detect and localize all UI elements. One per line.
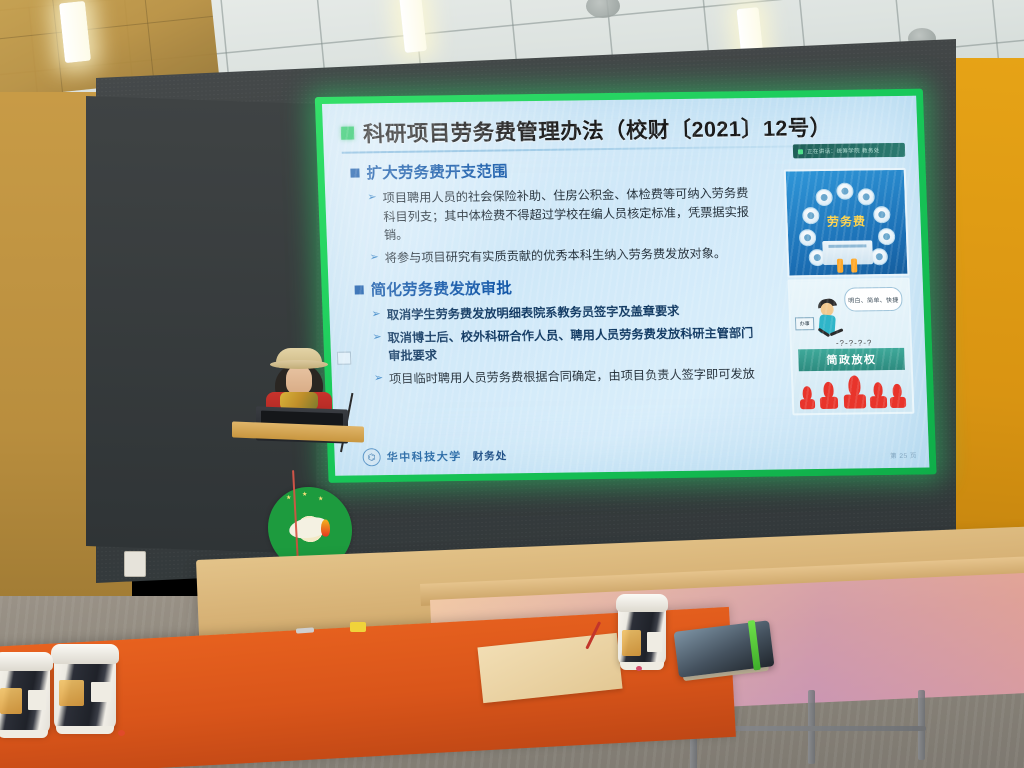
avatar-icon bbox=[878, 228, 896, 245]
arrow-icon: ➢ bbox=[374, 370, 384, 389]
arrow-icon: ➢ bbox=[367, 189, 378, 245]
cup-label bbox=[91, 682, 111, 702]
slide-body: 扩大劳务费开支范围 ➢ 项目聘用人员的社会保险补助、住房公积金、体检费等可纳入劳… bbox=[350, 156, 760, 393]
stamp-icon bbox=[848, 375, 861, 395]
university-logo-icon: ⌬ bbox=[362, 448, 381, 466]
bullet-2-3: ➢ 项目临时聘用人员劳务费根据合同确定，由项目负责人签字即可发放 bbox=[374, 365, 761, 389]
infographic-deregulation: 明白、简单、快捷 办事 -?-?-?-? 简政放权 bbox=[788, 278, 915, 416]
cup-label bbox=[28, 690, 45, 710]
avatar-icon bbox=[802, 207, 820, 224]
footer-university: 华中科技大学 bbox=[386, 448, 462, 465]
section-heading-2: 简化劳务费发放审批 bbox=[354, 273, 757, 301]
slide-side-icon bbox=[337, 352, 351, 365]
table-speck bbox=[350, 622, 366, 632]
stamp-icon bbox=[892, 384, 902, 398]
table-speck bbox=[636, 666, 642, 671]
cup-label bbox=[647, 632, 662, 652]
avatar-icon bbox=[815, 189, 833, 206]
bullet-1-1-text: 项目聘用人员的社会保险补助、住房公积金、体检费等可纳入劳务费科目列支；其中体检费… bbox=[382, 184, 755, 245]
emblem-star-icon: ★ bbox=[318, 495, 323, 502]
stamp-icon bbox=[890, 397, 906, 408]
bullet-1-2: ➢ 将参与项目研究有实质贡献的优秀本科生纳入劳务费发放对象。 bbox=[369, 244, 756, 268]
money-box-icon bbox=[822, 240, 873, 265]
cup-lid bbox=[616, 594, 669, 612]
avatar-icon bbox=[836, 183, 854, 200]
cup-lid bbox=[51, 644, 119, 664]
section-heading-1-label: 扩大劳务费开支范围 bbox=[366, 159, 508, 183]
slide-title: 科研项目劳务费管理办法（校财〔2021〕12号） bbox=[363, 111, 833, 149]
footer-department: 财务处 bbox=[472, 448, 507, 463]
title-bullet-icon bbox=[341, 127, 354, 140]
slide-footer-logo: ⌬ 华中科技大学 财务处 bbox=[362, 446, 507, 466]
avatar-icon bbox=[857, 188, 875, 205]
cup-body bbox=[618, 604, 666, 666]
bullet-2-1-text: 取消学生劳务费发放明细表院系教务员签字及盖章要求 bbox=[386, 302, 679, 325]
tag-icon: 办事 bbox=[795, 317, 814, 330]
table-speck bbox=[118, 730, 125, 736]
avatar-icon bbox=[871, 248, 889, 265]
emblem-flame-icon bbox=[321, 519, 330, 536]
slide: 科研项目劳务费管理办法（校财〔2021〕12号） 正在讲话：统筹学院 教务处 扩… bbox=[322, 96, 929, 476]
table-leg bbox=[918, 690, 925, 760]
cup-label-art bbox=[59, 680, 84, 706]
bullet-2-1: ➢ 取消学生劳务费发放明细表院系教务员签字及盖章要求 bbox=[371, 301, 758, 325]
cup-body bbox=[0, 662, 50, 734]
section-heading-2-label: 简化劳务费发放审批 bbox=[370, 277, 512, 301]
section-bullet-icon bbox=[350, 168, 359, 177]
cup-label-art bbox=[0, 688, 22, 714]
coffee-cup-left-far bbox=[0, 652, 50, 744]
stamp-icon bbox=[870, 396, 887, 408]
cup-lid bbox=[0, 652, 53, 671]
cup-base bbox=[56, 726, 113, 734]
bullet-1-2-text: 将参与项目研究有实质贡献的优秀本科生纳入劳务费发放对象。 bbox=[384, 244, 726, 267]
stamp-icon bbox=[802, 386, 812, 400]
avatar-icon bbox=[799, 229, 817, 246]
coffee-cup-left-near bbox=[54, 644, 116, 740]
deregulation-banner: 简政放权 bbox=[798, 348, 905, 371]
arrow-icon: ➢ bbox=[371, 306, 381, 325]
motion-dots-icon: -?-?-?-? bbox=[836, 338, 873, 348]
stamp-icon bbox=[800, 399, 815, 409]
presenter-hat bbox=[276, 348, 322, 368]
infographic-labor-fee: 劳务费 bbox=[784, 168, 910, 278]
stamp-icon bbox=[844, 394, 867, 408]
coffee-cup-center bbox=[618, 594, 666, 672]
screen-surface: 科研项目劳务费管理办法（校财〔2021〕12号） 正在讲话：统筹学院 教务处 扩… bbox=[322, 96, 929, 476]
coin-icon bbox=[837, 259, 844, 273]
badge-text: 正在讲话：统筹学院 教务处 bbox=[807, 146, 880, 155]
stamp-icon bbox=[820, 397, 838, 409]
arrow-icon: ➢ bbox=[372, 329, 383, 366]
wall-outlet bbox=[124, 551, 146, 577]
presenter-face bbox=[286, 365, 312, 395]
coin-icon bbox=[851, 259, 858, 273]
section-bullet-icon bbox=[355, 285, 364, 294]
badge-status-icon bbox=[798, 149, 803, 154]
slide-page-number: 第 25 页 bbox=[890, 450, 917, 460]
stamp-icon bbox=[873, 382, 883, 397]
cup-body bbox=[54, 654, 116, 730]
slide-title-row: 科研项目劳务费管理办法（校财〔2021〕12号） bbox=[341, 110, 902, 149]
emblem-star-icon: ★ bbox=[302, 491, 307, 498]
speech-bubble: 明白、简单、快捷 bbox=[844, 287, 903, 312]
avatar-icon bbox=[873, 206, 891, 223]
arrow-icon: ➢ bbox=[369, 249, 379, 268]
projection-screen: 科研项目劳务费管理办法（校财〔2021〕12号） 正在讲话：统筹学院 教务处 扩… bbox=[322, 96, 929, 476]
cup-base bbox=[0, 730, 48, 738]
bullet-1-1: ➢ 项目聘用人员的社会保险补助、住房公积金、体检费等可纳入劳务费科目列支；其中体… bbox=[367, 184, 755, 245]
section-heading-1: 扩大劳务费开支范围 bbox=[350, 156, 753, 184]
bullet-2-3-text: 项目临时聘用人员劳务费根据合同确定，由项目负责人签字即可发放 bbox=[389, 365, 755, 389]
table-legs bbox=[690, 690, 1020, 768]
lecture-hall-photo: 科研项目劳务费管理办法（校财〔2021〕12号） 正在讲话：统筹学院 教务处 扩… bbox=[0, 0, 1024, 768]
bullet-2-2: ➢ 取消博士后、校外科研合作人员、聘用人员劳务费发放科研主管部门审批要求 bbox=[372, 324, 759, 366]
stamp-icon bbox=[823, 382, 834, 398]
corner-badge: 正在讲话：统筹学院 教务处 bbox=[793, 143, 906, 159]
cup-base bbox=[620, 662, 664, 670]
emblem-star-icon: ★ bbox=[286, 494, 291, 501]
cup-label-art bbox=[622, 630, 641, 656]
bullet-2-2-text: 取消博士后、校外科研合作人员、聘用人员劳务费发放科研主管部门审批要求 bbox=[387, 324, 759, 366]
